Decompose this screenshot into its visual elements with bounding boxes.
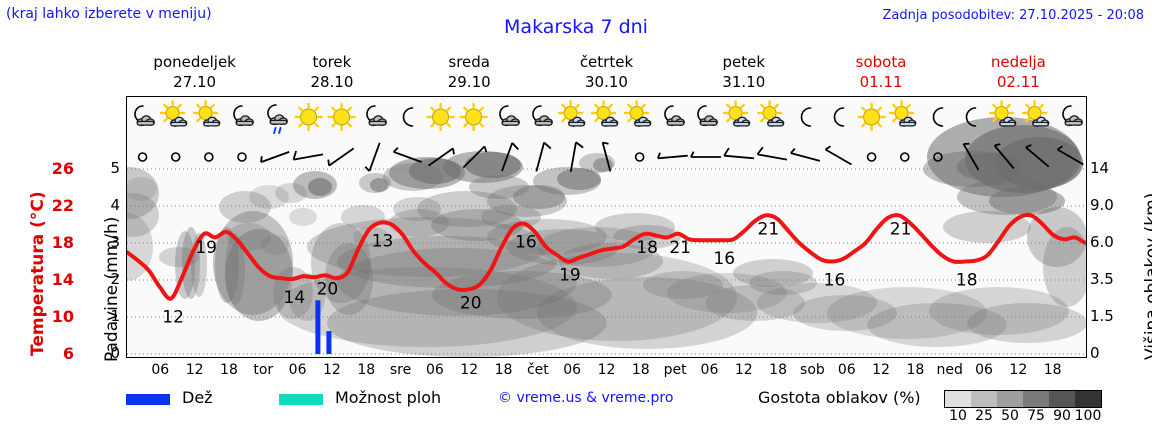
cloud-height-tick: 9.0: [1090, 196, 1122, 214]
precipitation-tick: 1: [98, 307, 120, 325]
barb-shaft: [995, 146, 1014, 169]
wind-barb: [394, 148, 422, 162]
cloud-height-axis-title: Višina oblakov (km): [1120, 160, 1146, 370]
calm-wind-symbol: [636, 153, 644, 161]
temperature-extreme-label: 16: [713, 249, 735, 269]
sky-icon-sun: [855, 97, 888, 141]
sky-icon-sun-cloud: [192, 97, 225, 141]
temperature-extreme-label: 21: [890, 219, 912, 239]
precipitation-bar: [315, 300, 320, 354]
x-axis-tick: 06: [829, 362, 865, 378]
x-axis-tick: 06: [280, 362, 316, 378]
calm-wind-symbol: [238, 153, 246, 161]
wind-barb: [328, 148, 353, 165]
sky-icon-sun-cloud: [159, 97, 192, 141]
temperature-extreme-label: 20: [460, 293, 482, 313]
day-date: 01.11: [812, 72, 949, 92]
barb-shaft: [1057, 150, 1083, 165]
temperature-extreme-label: 18: [956, 271, 978, 291]
sky-icon-moon-cloud: [689, 97, 722, 141]
barb-feather: [328, 160, 329, 166]
wind-barb: [1026, 145, 1049, 167]
barb-feather: [512, 143, 518, 150]
sky-icon-sun-cloud: [1021, 97, 1054, 141]
sky-icon-moon-cloud: [656, 97, 689, 141]
wind-barb: [261, 152, 289, 162]
temperature-extreme-label: 21: [669, 238, 691, 258]
cloud-density-swatch: [1049, 391, 1075, 407]
barb-shaft: [429, 148, 454, 165]
x-axis-tick: 06: [142, 362, 178, 378]
day-date: 29.10: [401, 72, 538, 92]
wind-barb: [964, 144, 979, 170]
temperature-extreme-label: 13: [372, 232, 394, 252]
barb-shaft: [571, 142, 576, 172]
cloud-blob: [967, 303, 1086, 343]
cloud-blob: [289, 208, 317, 226]
precipitation-bar: [326, 331, 331, 354]
sky-icon-sun-cloud: [888, 97, 921, 141]
showers-legend-swatch: [279, 394, 323, 405]
temperature-tick: 22: [38, 196, 74, 215]
cloud-blob: [943, 211, 1031, 243]
wind-barb: [791, 149, 820, 161]
wind-barb: [502, 143, 518, 171]
wind-barb-canvas: [126, 141, 1087, 173]
day-date: 27.10: [126, 72, 263, 92]
wind-barb: [238, 153, 246, 161]
temperature-tick: 26: [38, 159, 74, 178]
x-axis-tick: ned: [932, 362, 968, 378]
day-name: ponedeljek: [126, 52, 263, 72]
x-axis-tick: 12: [863, 362, 899, 378]
precipitation-tick: 2: [98, 270, 120, 288]
precipitation-tick: 0: [98, 344, 120, 362]
temperature-extreme-label: 16: [824, 271, 846, 291]
x-axis-tick: čet: [520, 362, 556, 378]
barb-feather: [791, 149, 795, 153]
wind-barb: [724, 148, 754, 158]
barb-feather: [757, 147, 762, 154]
day-name: petek: [675, 52, 812, 72]
sky-icon-moon: [921, 97, 954, 141]
day-name: sobota: [812, 52, 949, 72]
wind-barb: [934, 153, 942, 161]
cloud-height-tick: 14: [1090, 159, 1122, 177]
cloud-height-tick: 1.5: [1090, 307, 1122, 325]
sky-icon-moon-cloud: [126, 97, 159, 141]
sky-icon-sun: [424, 97, 457, 141]
wind-barb: [691, 152, 721, 157]
sky-icon-sun: [457, 97, 490, 141]
x-axis-tick: 12: [314, 362, 350, 378]
x-axis-tick: 06: [417, 362, 453, 378]
day-date: 30.10: [538, 72, 675, 92]
cloud-density-swatch: [1075, 391, 1101, 407]
wind-barb: [603, 143, 611, 172]
sky-icon-sun-cloud: [590, 97, 623, 141]
barb-shaft: [536, 143, 544, 172]
barb-feather: [485, 146, 487, 152]
calm-wind-symbol: [868, 153, 876, 161]
wind-barb: [636, 153, 644, 161]
wind-barb: [825, 146, 851, 164]
temperature-tick: 10: [38, 307, 74, 326]
x-axis-tick: 18: [1035, 362, 1071, 378]
temperature-extreme-label: 14: [284, 288, 306, 308]
calm-wind-symbol: [934, 153, 942, 161]
x-axis-tick: pet: [657, 362, 693, 378]
barb-feather: [394, 148, 398, 152]
sky-icon-moon: [954, 97, 987, 141]
calm-wind-symbol: [139, 153, 147, 161]
barb-shaft: [463, 146, 484, 167]
cloud-density-swatch: [945, 391, 971, 407]
temperature-extreme-label: 16: [515, 233, 537, 253]
x-axis-tick: 18: [623, 362, 659, 378]
day-date: 28.10: [263, 72, 400, 92]
barb-shaft: [791, 153, 820, 161]
wind-barb: [571, 142, 583, 172]
barb-feather: [724, 148, 729, 156]
temperature-tick: 6: [38, 344, 74, 363]
x-axis-tick: 18: [760, 362, 796, 378]
temperature-extreme-label: 19: [195, 238, 217, 258]
cloud-blob: [275, 183, 307, 203]
barb-shaft: [658, 156, 688, 159]
wind-barb: [995, 144, 1014, 168]
rain-legend-label: Dež: [182, 388, 213, 407]
cloud-density-tick: 100: [1073, 408, 1103, 424]
barb-shaft: [1026, 147, 1049, 166]
sky-icon-sun-cloud: [756, 97, 789, 141]
barb-shaft: [502, 143, 512, 171]
cloud-density-legend-title: Gostota oblakov (%): [758, 388, 921, 407]
wind-barb: [901, 153, 909, 161]
sky-icon-moon-cloud: [1054, 97, 1087, 141]
day-name: sreda: [401, 52, 538, 72]
legend: Dež Možnost ploh © vreme.us & vreme.pro …: [126, 388, 1146, 428]
barb-feather: [1057, 146, 1062, 149]
wind-barb: [536, 143, 550, 172]
wind-barb: [205, 153, 213, 161]
sky-icon-moon: [391, 97, 424, 141]
wind-barb-row: [126, 141, 1087, 173]
cloud-density-gradient-bar: [944, 390, 1102, 408]
barb-shaft: [603, 143, 611, 172]
x-axis-tick: 06: [554, 362, 590, 378]
sky-icon-sun: [325, 97, 358, 141]
barb-shaft: [724, 156, 754, 159]
barb-shaft: [825, 150, 851, 165]
precipitation-tick: 3: [98, 233, 120, 251]
cloud-blob: [261, 235, 289, 255]
sky-icon-sun-cloud: [988, 97, 1021, 141]
x-axis-tick: tor: [245, 362, 281, 378]
x-axis-tick: 12: [1000, 362, 1036, 378]
temperature-axis-title: Temperatura (°C): [6, 160, 32, 360]
x-axis-tick: 12: [177, 362, 213, 378]
wind-barb: [429, 148, 454, 165]
wind-barb: [172, 153, 180, 161]
day-name: torek: [263, 52, 400, 72]
barb-shaft: [369, 143, 379, 171]
day-header-row: ponedeljek27.10torek28.10sreda29.10četrt…: [126, 52, 1087, 94]
cloud-blob: [643, 271, 723, 299]
barb-feather: [365, 167, 369, 171]
x-axis-tick: 12: [451, 362, 487, 378]
barb-feather: [261, 156, 262, 162]
copyright-link[interactable]: © vreme.us & vreme.pro: [498, 390, 673, 406]
x-axis-tick: 18: [897, 362, 933, 378]
sky-icon-moon-cloud-drizzle: [259, 97, 292, 141]
barb-feather: [576, 142, 583, 147]
day-name: četrtek: [538, 52, 675, 72]
day-name: nedelja: [950, 52, 1087, 72]
sky-icon-moon: [789, 97, 822, 141]
sky-icon-sun: [292, 97, 325, 141]
sky-icon-moon-cloud: [524, 97, 557, 141]
barb-feather: [453, 148, 454, 154]
temperature-tick: 14: [38, 270, 74, 289]
cloud-density-swatch: [997, 391, 1023, 407]
x-axis-tick: 18: [211, 362, 247, 378]
sky-icon-sun-cloud: [722, 97, 755, 141]
precipitation-tick: 5: [98, 159, 120, 177]
x-axis-tick: 12: [589, 362, 625, 378]
temperature-extreme-label: 19: [559, 266, 581, 286]
showers-legend-label: Možnost ploh: [335, 388, 441, 407]
calm-wind-symbol: [901, 153, 909, 161]
last-update-text: Zadnja posodobitev: 27.10.2025 - 20:08: [882, 8, 1144, 23]
barb-shaft: [964, 144, 979, 170]
temperature-extreme-label: 20: [317, 279, 339, 299]
barb-shaft: [394, 152, 422, 162]
sky-icon-sun-cloud: [557, 97, 590, 141]
day-date: 31.10: [675, 72, 812, 92]
temperature-extreme-label: 21: [758, 219, 780, 239]
cloud-height-tick: 6.0: [1090, 233, 1122, 251]
x-axis-tick: 12: [726, 362, 762, 378]
sky-icon-moon-cloud: [491, 97, 524, 141]
barb-feather: [603, 143, 609, 144]
barb-shaft: [293, 154, 323, 159]
barb-feather: [1026, 145, 1032, 147]
sky-icon-moon: [822, 97, 855, 141]
sky-icon-moon-cloud: [358, 97, 391, 141]
wind-barb: [868, 153, 876, 161]
x-axis-tick: sre: [383, 362, 419, 378]
day-date: 02.11: [950, 72, 1087, 92]
x-axis-tick: 06: [966, 362, 1002, 378]
barb-feather: [544, 143, 551, 149]
x-axis-tick: sob: [794, 362, 830, 378]
x-axis-tick: 18: [348, 362, 384, 378]
cloud-height-axis-label: Višina oblakov (km): [1142, 193, 1152, 360]
barb-feather: [825, 146, 830, 149]
barb-shaft: [329, 148, 354, 165]
barb-shaft: [757, 154, 787, 159]
wind-barb: [365, 143, 379, 171]
cloud-height-tick: 3.5: [1090, 270, 1122, 288]
barb-feather: [995, 144, 1001, 145]
precipitation-axis-title: Padavine (mm/h): [80, 160, 106, 370]
wind-barb: [293, 151, 323, 160]
calm-wind-symbol: [205, 153, 213, 161]
barb-shaft: [261, 152, 289, 162]
wind-barb: [1057, 146, 1083, 164]
cloud-blob: [341, 205, 385, 229]
x-axis-tick: 18: [486, 362, 522, 378]
temperature-extreme-label: 12: [162, 308, 184, 328]
sky-icon-sun-cloud: [623, 97, 656, 141]
cloud-height-tick: 0: [1090, 344, 1122, 362]
wind-barb: [139, 153, 147, 161]
cloud-density-swatch: [1023, 391, 1049, 407]
wind-barb: [757, 147, 787, 159]
wind-barb: [658, 153, 688, 159]
temperature-tick: 18: [38, 233, 74, 252]
x-axis-tick: 06: [691, 362, 727, 378]
precipitation-tick: 4: [98, 196, 120, 214]
wind-barb: [463, 146, 486, 167]
sky-icon-moon-cloud: [225, 97, 258, 141]
temperature-extreme-label: 18: [636, 238, 658, 258]
sky-condition-icon-row: [126, 97, 1087, 141]
rain-legend-swatch: [126, 394, 170, 405]
cloud-density-swatch: [971, 391, 997, 407]
calm-wind-symbol: [172, 153, 180, 161]
cloud-blob: [308, 178, 332, 196]
